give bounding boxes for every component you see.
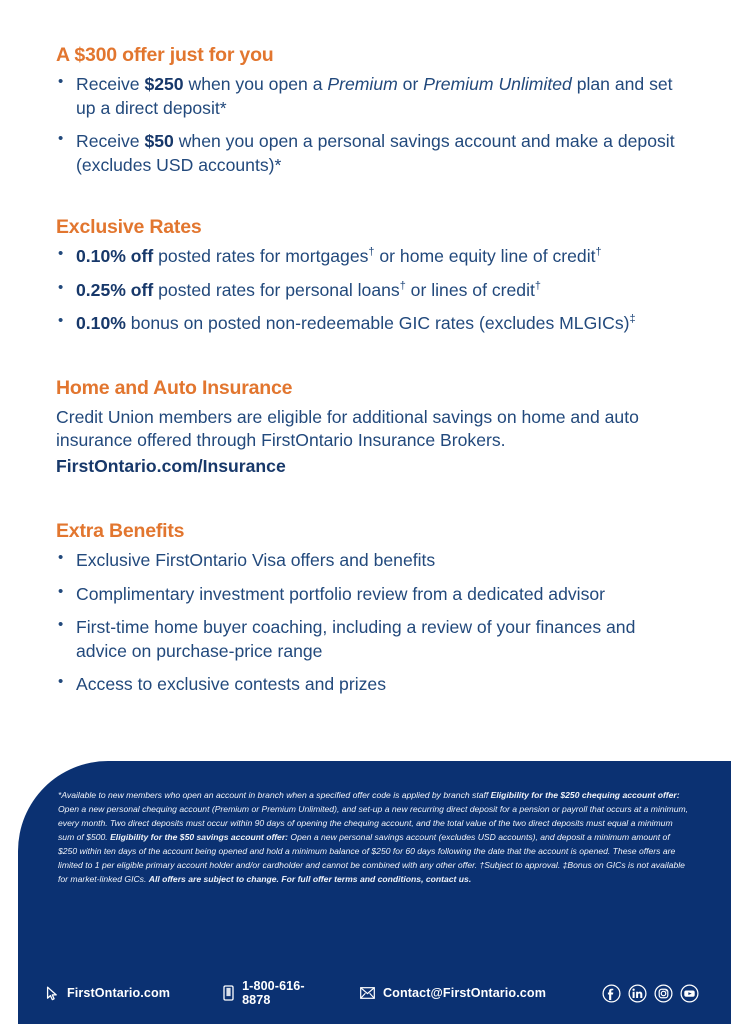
main-content: A $300 offer just for you Receive $250 w… <box>0 0 731 696</box>
rates-bullet-list: 0.10% off posted rates for mortgages† or… <box>56 245 686 335</box>
section-home-auto-insurance: Home and Auto Insurance Credit Union mem… <box>56 377 686 479</box>
social-links <box>602 984 699 1003</box>
section-heading-rates: Exclusive Rates <box>56 216 686 239</box>
list-item: Exclusive FirstOntario Visa offers and b… <box>56 549 686 572</box>
insurance-body-text: Credit Union members are eligible for ad… <box>56 406 686 453</box>
fine-print-disclaimer: *Available to new members who open an ac… <box>58 789 690 886</box>
extra-bullet-list: Exclusive FirstOntario Visa offers and b… <box>56 549 686 696</box>
envelope-icon <box>360 987 375 999</box>
section-offer: A $300 offer just for you Receive $250 w… <box>56 44 686 177</box>
section-heading-offer: A $300 offer just for you <box>56 44 686 67</box>
list-item: First-time home buyer coaching, includin… <box>56 616 686 663</box>
contact-website-label: FirstOntario.com <box>67 986 170 1000</box>
list-item: Complimentary investment portfolio revie… <box>56 583 686 606</box>
contact-phone[interactable]: 1-800-616-8878 <box>223 979 307 1007</box>
offer-bullet-list: Receive $250 when you open a Premium or … <box>56 73 686 177</box>
list-item: 0.10% bonus on posted non-redeemable GIC… <box>56 312 686 335</box>
section-extra-benefits: Extra Benefits Exclusive FirstOntario Vi… <box>56 520 686 696</box>
linkedin-icon[interactable] <box>628 984 647 1003</box>
mobile-phone-icon <box>223 985 234 1001</box>
facebook-icon[interactable] <box>602 984 621 1003</box>
list-item: 0.25% off posted rates for personal loan… <box>56 279 686 302</box>
section-heading-extra: Extra Benefits <box>56 520 686 543</box>
contact-email-label: Contact@FirstOntario.com <box>383 986 546 1000</box>
footer-panel: *Available to new members who open an ac… <box>18 761 731 1024</box>
contact-email[interactable]: Contact@FirstOntario.com <box>360 986 546 1000</box>
contact-bar: FirstOntario.com 1-800-616-8878 <box>18 962 731 1024</box>
section-heading-insurance: Home and Auto Insurance <box>56 377 686 400</box>
insurance-link[interactable]: FirstOntario.com/Insurance <box>56 455 686 478</box>
list-item: 0.10% off posted rates for mortgages† or… <box>56 245 686 268</box>
youtube-icon[interactable] <box>680 984 699 1003</box>
contact-phone-label: 1-800-616-8878 <box>242 979 307 1007</box>
section-exclusive-rates: Exclusive Rates 0.10% off posted rates f… <box>56 216 686 336</box>
list-item: Access to exclusive contests and prizes <box>56 673 686 696</box>
list-item: Receive $50 when you open a personal sav… <box>56 130 686 177</box>
cursor-icon <box>46 986 59 1001</box>
instagram-icon[interactable] <box>654 984 673 1003</box>
list-item: Receive $250 when you open a Premium or … <box>56 73 686 120</box>
flyer-page: A $300 offer just for you Receive $250 w… <box>0 0 731 1024</box>
contact-website[interactable]: FirstOntario.com <box>46 986 170 1001</box>
